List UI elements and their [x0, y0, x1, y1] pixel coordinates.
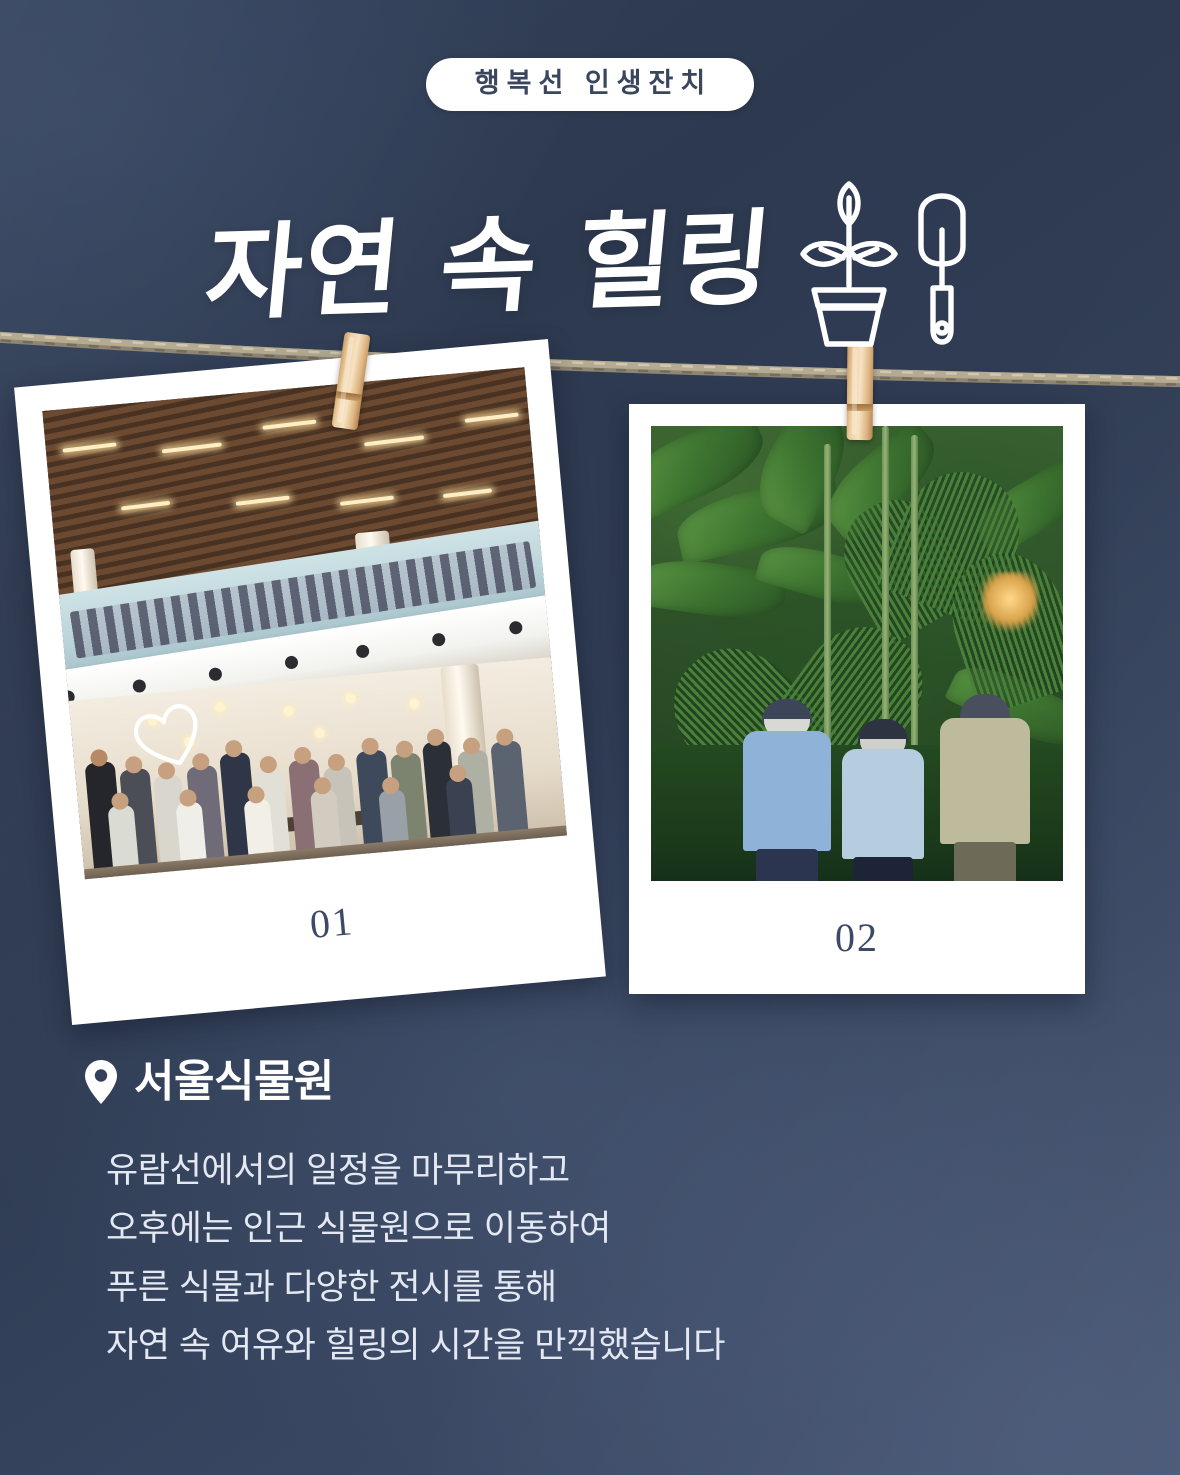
- photo-01: [42, 367, 567, 879]
- location-row: 서울식물원: [84, 1058, 1084, 1106]
- description-line-2: 오후에는 인근 식물원으로 이동하여: [106, 1200, 1084, 1258]
- place-name: 서울식물원: [134, 1058, 334, 1106]
- description-line-1: 유람선에서의 일정을 마무리하고: [106, 1142, 1084, 1200]
- clothespin-2: [847, 344, 874, 440]
- event-badge: 행복선 인생잔치: [426, 58, 754, 111]
- heart-doodle-icon: [122, 689, 215, 780]
- description-line-3: 푸른 식물과 다양한 전시를 통해: [106, 1259, 1084, 1317]
- title-icon-group: [797, 178, 973, 348]
- info-block: 서울식물원 유람선에서의 일정을 마무리하고 오후에는 인근 식물원으로 이동하…: [84, 1058, 1084, 1375]
- polaroid-card-01[interactable]: 01: [14, 339, 606, 1025]
- location-pin-icon: [84, 1059, 118, 1105]
- potted-plant-icon: [797, 178, 901, 348]
- photo-caption-02: 02: [651, 881, 1063, 994]
- description-line-4: 자연 속 여유와 힐링의 시간을 만끽했습니다: [106, 1317, 1084, 1375]
- trowel-icon: [911, 178, 973, 348]
- title-row: 자연 속 힐링: [0, 178, 1180, 354]
- polaroid-card-02[interactable]: 02: [629, 404, 1085, 994]
- photo-02: [651, 426, 1063, 881]
- description-text: 유람선에서의 일정을 마무리하고 오후에는 인근 식물원으로 이동하여 푸른 식…: [106, 1142, 1084, 1374]
- page-title: 자연 속 힐링: [200, 197, 778, 335]
- badge-container: 행복선 인생잔치: [0, 58, 1180, 111]
- poster-canvas: 행복선 인생잔치 자연 속 힐링: [0, 0, 1180, 1475]
